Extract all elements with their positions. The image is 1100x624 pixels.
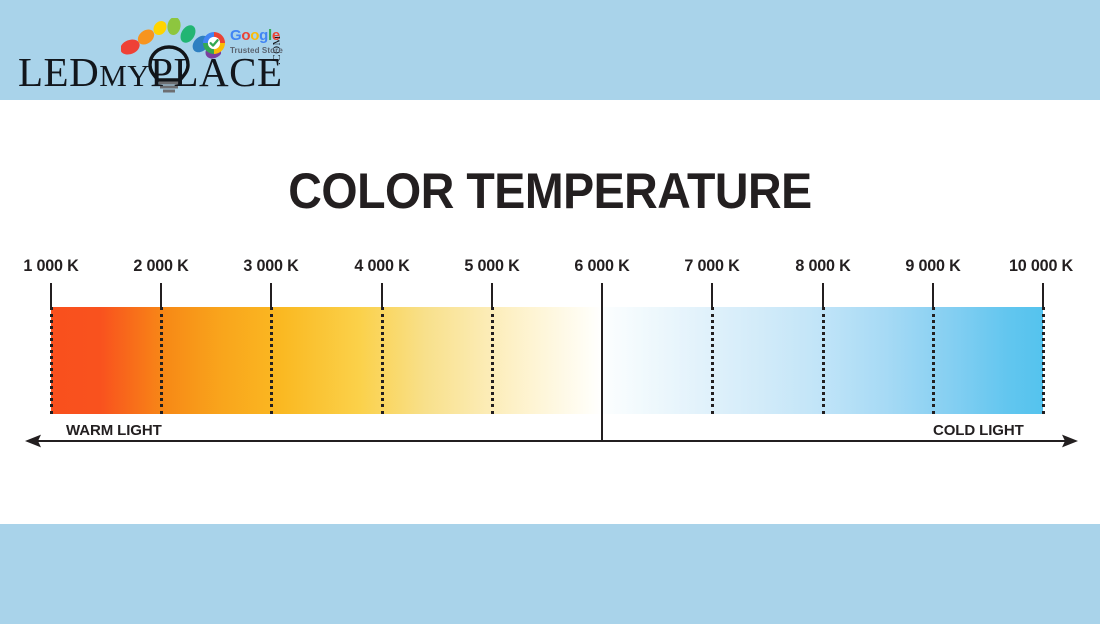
tick-mark-2000k [160, 283, 162, 308]
tick-label-1000k: 1 000 K [23, 256, 78, 276]
infographic-page: LEDMYPLACE .COM Google Trusted Store COL… [0, 0, 1100, 624]
tick-label-5000k: 5 000 K [464, 256, 519, 276]
tick-guide-9000k [932, 307, 935, 414]
tick-mark-4000k [381, 283, 383, 308]
tick-mark-5000k [491, 283, 493, 308]
tick-label-2000k: 2 000 K [133, 256, 188, 276]
tick-guide-8000k [822, 307, 825, 414]
tick-guide-7000k [711, 307, 714, 414]
tick-label-4000k: 4 000 K [354, 256, 409, 276]
warm-light-caption: WARM LIGHT [66, 422, 162, 439]
tick-label-7000k: 7 000 K [684, 256, 739, 276]
tick-label-3000k: 3 000 K [243, 256, 298, 276]
tick-guide-10000k [1042, 307, 1045, 414]
tick-mark-3000k [270, 283, 272, 308]
tick-label-9000k: 9 000 K [905, 256, 960, 276]
tick-guide-1000k [50, 307, 53, 414]
tick-label-6000k: 6 000 K [574, 256, 629, 276]
tick-mark-7000k [711, 283, 713, 308]
tick-guide-2000k [160, 307, 163, 414]
warm-gradient-bar [51, 307, 602, 414]
direction-axis-line [31, 440, 1069, 442]
tick-guide-5000k [491, 307, 494, 414]
tick-guide-3000k [270, 307, 273, 414]
tick-mark-9000k [932, 283, 934, 308]
tick-mark-8000k [822, 283, 824, 308]
tick-label-8000k: 8 000 K [795, 256, 850, 276]
color-temperature-scale: 1 000 K 2 000 K 3 000 K 4 000 K 5 000 K … [0, 0, 1100, 624]
tick-label-10000k: 10 000 K [1009, 256, 1073, 276]
tick-guide-4000k [381, 307, 384, 414]
tick-mark-1000k [50, 283, 52, 308]
cold-light-caption: COLD LIGHT [933, 422, 1024, 439]
neutral-divider-6000k [601, 283, 603, 441]
tick-mark-10000k [1042, 283, 1044, 308]
